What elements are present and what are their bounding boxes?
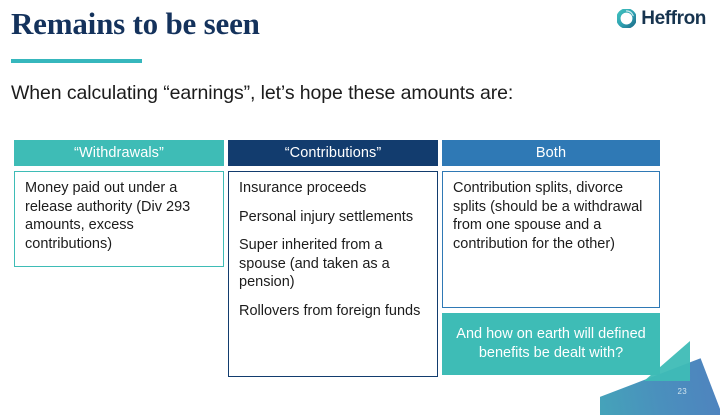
list-item: Insurance proceeds [239, 179, 428, 198]
presentation-slide: Remains to be seen When calculating “ear… [0, 0, 720, 415]
brand-name: Heffron [641, 9, 706, 28]
column-header-both: Both [442, 140, 660, 166]
column-header-withdrawals: “Withdrawals” [14, 140, 224, 166]
callout-defined-benefits: And how on earth will defined benefits b… [442, 313, 660, 375]
column-body-both: Contribution splits, divorce splits (sho… [442, 171, 660, 308]
page-title: Remains to be seen [11, 6, 260, 42]
slide-number: 23 [678, 387, 688, 396]
list-item: Money paid out under a release authority… [25, 179, 214, 253]
slide-subtitle: When calculating “earnings”, let’s hope … [11, 82, 513, 105]
list-item: Personal injury settlements [239, 208, 428, 227]
column-withdrawals: “Withdrawals” Money paid out under a rel… [14, 140, 224, 267]
column-body-contributions: Insurance proceeds Personal injury settl… [228, 171, 438, 377]
list-item: Contribution splits, divorce splits (sho… [453, 179, 650, 253]
title-underline-rule [11, 59, 142, 63]
list-item: Super inherited from a spouse (and taken… [239, 236, 428, 292]
column-header-contributions: “Contributions” [228, 140, 438, 166]
column-contributions: “Contributions” Insurance proceeds Perso… [228, 140, 438, 377]
column-both: Both Contribution splits, divorce splits… [442, 140, 660, 308]
column-body-withdrawals: Money paid out under a release authority… [14, 171, 224, 267]
list-item: Rollovers from foreign funds [239, 302, 428, 321]
brand-logo: Heffron [617, 9, 706, 28]
ring-icon [617, 9, 636, 28]
